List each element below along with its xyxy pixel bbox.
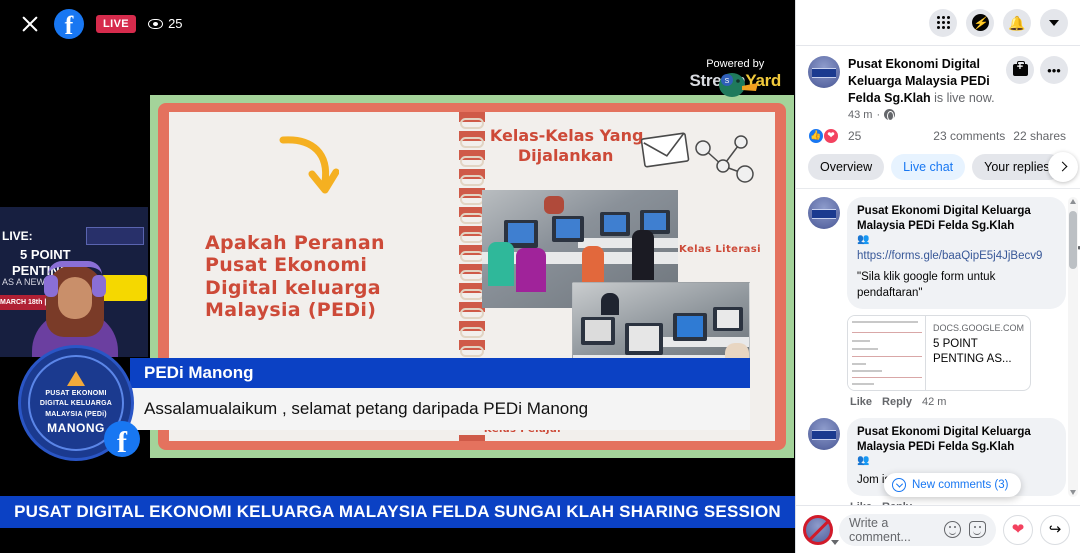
headphone-right — [92, 275, 106, 297]
emoji-icon[interactable] — [944, 521, 961, 538]
comment-like-button[interactable]: Like — [850, 396, 872, 408]
commenter-avatar[interactable] — [808, 197, 840, 229]
post-header-actions: ••• — [1006, 56, 1068, 121]
facebook-icon: f — [104, 421, 140, 457]
bottom-letterbox — [0, 528, 795, 553]
chevron-down-circle-icon — [892, 478, 906, 492]
tab-live-chat[interactable]: Live chat — [891, 154, 965, 180]
sticker-icon[interactable] — [969, 521, 986, 538]
network-nodes-icon — [696, 136, 753, 182]
link-preview-thumbnail — [848, 316, 926, 390]
curved-arrow-icon — [279, 132, 339, 202]
share-arrow-icon[interactable]: ↪ — [1040, 515, 1070, 545]
duck-mascot-icon: S — [712, 70, 760, 100]
post-meta: Pusat Ekonomi Digital Keluarga Malaysia … — [848, 56, 998, 121]
link-preview-domain: DOCS.GOOGLE.COM — [933, 322, 1023, 334]
sidebar-tabs: Overview Live chat Your replies — [796, 150, 1080, 188]
video-pane: Apakah Peranan Pusat Ekonomi Digital kel… — [0, 0, 795, 553]
link-preview-info: DOCS.GOOGLE.COM 5 POINT PENTING AS... — [926, 316, 1030, 390]
comment-time[interactable]: 42 m — [922, 396, 946, 408]
post-stats: 👍 ❤ 25 23 comments 22 shares — [796, 121, 1080, 150]
heart-icon[interactable]: ❤ — [1003, 515, 1033, 545]
new-comments-label: New comments (3) — [912, 479, 1009, 491]
slide-question-line: Pusat Ekonomi — [205, 254, 385, 276]
video-stage[interactable]: Apakah Peranan Pusat Ekonomi Digital kel… — [0, 0, 795, 553]
ellipsis-icon[interactable]: ••• — [1040, 56, 1068, 84]
comment-reply-button[interactable]: Reply — [882, 501, 912, 505]
comment-author[interactable]: Pusat Ekonomi Digital Keluarga Malaysia … — [857, 425, 1056, 455]
viewer-count: 25 — [148, 16, 182, 31]
page-avatar[interactable] — [808, 56, 840, 88]
sidebar-nav: ⚡ 🔔 — [796, 0, 1080, 46]
page-badge-icon: 👥 — [857, 234, 1056, 246]
speaker-face — [58, 277, 92, 319]
post-time-value: 43 m — [848, 109, 872, 121]
comment-like-button[interactable]: Like — [850, 501, 872, 505]
label-kelas-literasi: Kelas Literasi — [679, 244, 761, 255]
tab-overview[interactable]: Overview — [808, 154, 884, 180]
comment-text: "Sila klik google form untuk pendaftaran… — [857, 269, 1056, 301]
grid-menu-icon[interactable] — [929, 9, 957, 37]
comment-bubble: Pusat Ekonomi Digital Keluarga Malaysia … — [847, 197, 1066, 309]
caption-bar: Assalamualaikum , selamat petang daripad… — [130, 388, 750, 430]
facebook-live-watch-page: Apakah Peranan Pusat Ekonomi Digital kel… — [0, 0, 1080, 553]
comment-actions: Like Reply — [847, 501, 1066, 505]
headphone-left — [44, 275, 58, 297]
bell-icon[interactable]: 🔔 — [1003, 9, 1031, 37]
comment-author[interactable]: Pusat Ekonomi Digital Keluarga Malaysia … — [857, 204, 1056, 234]
comment-input-placeholder: Write a comment... — [849, 516, 936, 544]
slide-question: Apakah Peranan Pusat Ekonomi Digital kel… — [205, 232, 385, 322]
comment-composer: Write a comment... ❤ ↪ — [796, 505, 1080, 553]
logo-text-4: MANONG — [47, 421, 105, 435]
slide-right-title-line1: Kelas-Kelas Yang — [490, 126, 644, 145]
globe-icon — [884, 109, 895, 120]
pedi-manong-logo: PUSAT EKONOMI DIGITAL KELUARGA MALAYSIA … — [18, 345, 134, 461]
scroll-up-arrow-icon[interactable] — [1070, 199, 1076, 204]
scrollbar-thumb[interactable] — [1069, 211, 1077, 269]
shares-count[interactable]: 22 shares — [1013, 129, 1066, 143]
envelope-icon — [641, 133, 688, 167]
page-badge-icon: 👥 — [857, 455, 1056, 467]
link-preview-card[interactable]: DOCS.GOOGLE.COM 5 POINT PENTING AS... — [847, 315, 1031, 391]
speaker-webcam-overlay[interactable]: LIVE: 5 POINT PENTING AS A NEWBIE MARCH … — [0, 207, 148, 357]
chevron-right-icon[interactable] — [1048, 152, 1078, 182]
caret-down-icon — [831, 540, 839, 545]
link-preview-title: 5 POINT PENTING AS... — [933, 337, 1023, 367]
logo-triangle-icon — [67, 371, 85, 386]
list-item: Pusat Ekonomi Digital Keluarga Malaysia … — [808, 197, 1066, 408]
comment-reply-button[interactable]: Reply — [882, 396, 912, 408]
slide-question-line: Digital keluarga — [205, 277, 385, 299]
comments-count[interactable]: 23 comments — [933, 129, 1005, 143]
account-chevron-down-icon[interactable] — [1040, 9, 1068, 37]
headphone-band — [48, 261, 102, 275]
logo-text-1: PUSAT EKONOMI — [45, 389, 106, 400]
streamyard-watermark: Powered by S StreamYard — [690, 58, 782, 89]
comment-input-box[interactable]: Write a comment... — [839, 514, 996, 546]
post-header: Pusat Ekonomi Digital Keluarga Malaysia … — [796, 46, 1080, 121]
comments-list[interactable]: Pusat Ekonomi Digital Keluarga Malaysia … — [796, 188, 1080, 505]
scroll-down-arrow-icon[interactable] — [1070, 490, 1076, 495]
live-badge: LIVE — [96, 15, 136, 33]
powered-by-label: Powered by — [690, 58, 782, 70]
bottom-ticker: PUSAT DIGITAL EKONOMI KELUARGA MALAYSIA … — [0, 496, 795, 528]
comment-actions: Like Reply 42 m — [847, 396, 1066, 408]
eye-icon — [148, 19, 163, 29]
messenger-icon[interactable]: ⚡ — [966, 9, 994, 37]
post-timestamp: 43 m · — [848, 109, 998, 121]
video-topbar: f LIVE 25 — [0, 0, 795, 47]
doodle-icons — [641, 126, 761, 198]
comment-link[interactable]: https://forms.gle/baaQipE5j4JjBecv9 — [857, 248, 1056, 264]
heart-reaction-icon: ❤ — [823, 128, 839, 144]
post-counts: 23 comments 22 shares — [933, 129, 1066, 143]
new-comments-button[interactable]: New comments (3) — [884, 473, 1021, 497]
blocked-avatar-icon[interactable] — [804, 516, 832, 544]
post-title: Pusat Ekonomi Digital Keluarga Malaysia … — [848, 56, 998, 107]
slide-question-line: Apakah Peranan — [205, 232, 385, 254]
logo-text-3: MALAYSIA (PEDi) — [45, 410, 107, 421]
comment-body: Pusat Ekonomi Digital Keluarga Malaysia … — [847, 197, 1066, 408]
reaction-count: 25 — [848, 129, 861, 143]
live-status: is live now. — [931, 91, 995, 105]
logo-text-2: DIGITAL KELUARGA — [40, 399, 112, 410]
reaction-summary[interactable]: 👍 ❤ 25 — [808, 128, 861, 144]
close-icon[interactable] — [18, 12, 42, 36]
live-sidebar: ⚡ 🔔 Pusat Ekonomi Digital Keluarga Malay… — [795, 0, 1080, 553]
pip-text-live: LIVE: — [2, 229, 33, 243]
svg-text:S: S — [724, 78, 729, 85]
add-to-page-icon[interactable] — [1006, 56, 1034, 84]
commenter-avatar[interactable] — [808, 418, 840, 450]
speaker-figure — [32, 243, 118, 357]
slide-question-line: Malaysia (PEDi) — [205, 299, 385, 321]
comments-scrollbar[interactable] — [1068, 197, 1078, 497]
speaker-name-bar: PEDi Manong — [130, 358, 750, 388]
facebook-logo[interactable]: f — [54, 9, 84, 39]
viewer-count-value: 25 — [168, 16, 182, 31]
thumbs-up-icon: 👍 — [808, 128, 824, 144]
